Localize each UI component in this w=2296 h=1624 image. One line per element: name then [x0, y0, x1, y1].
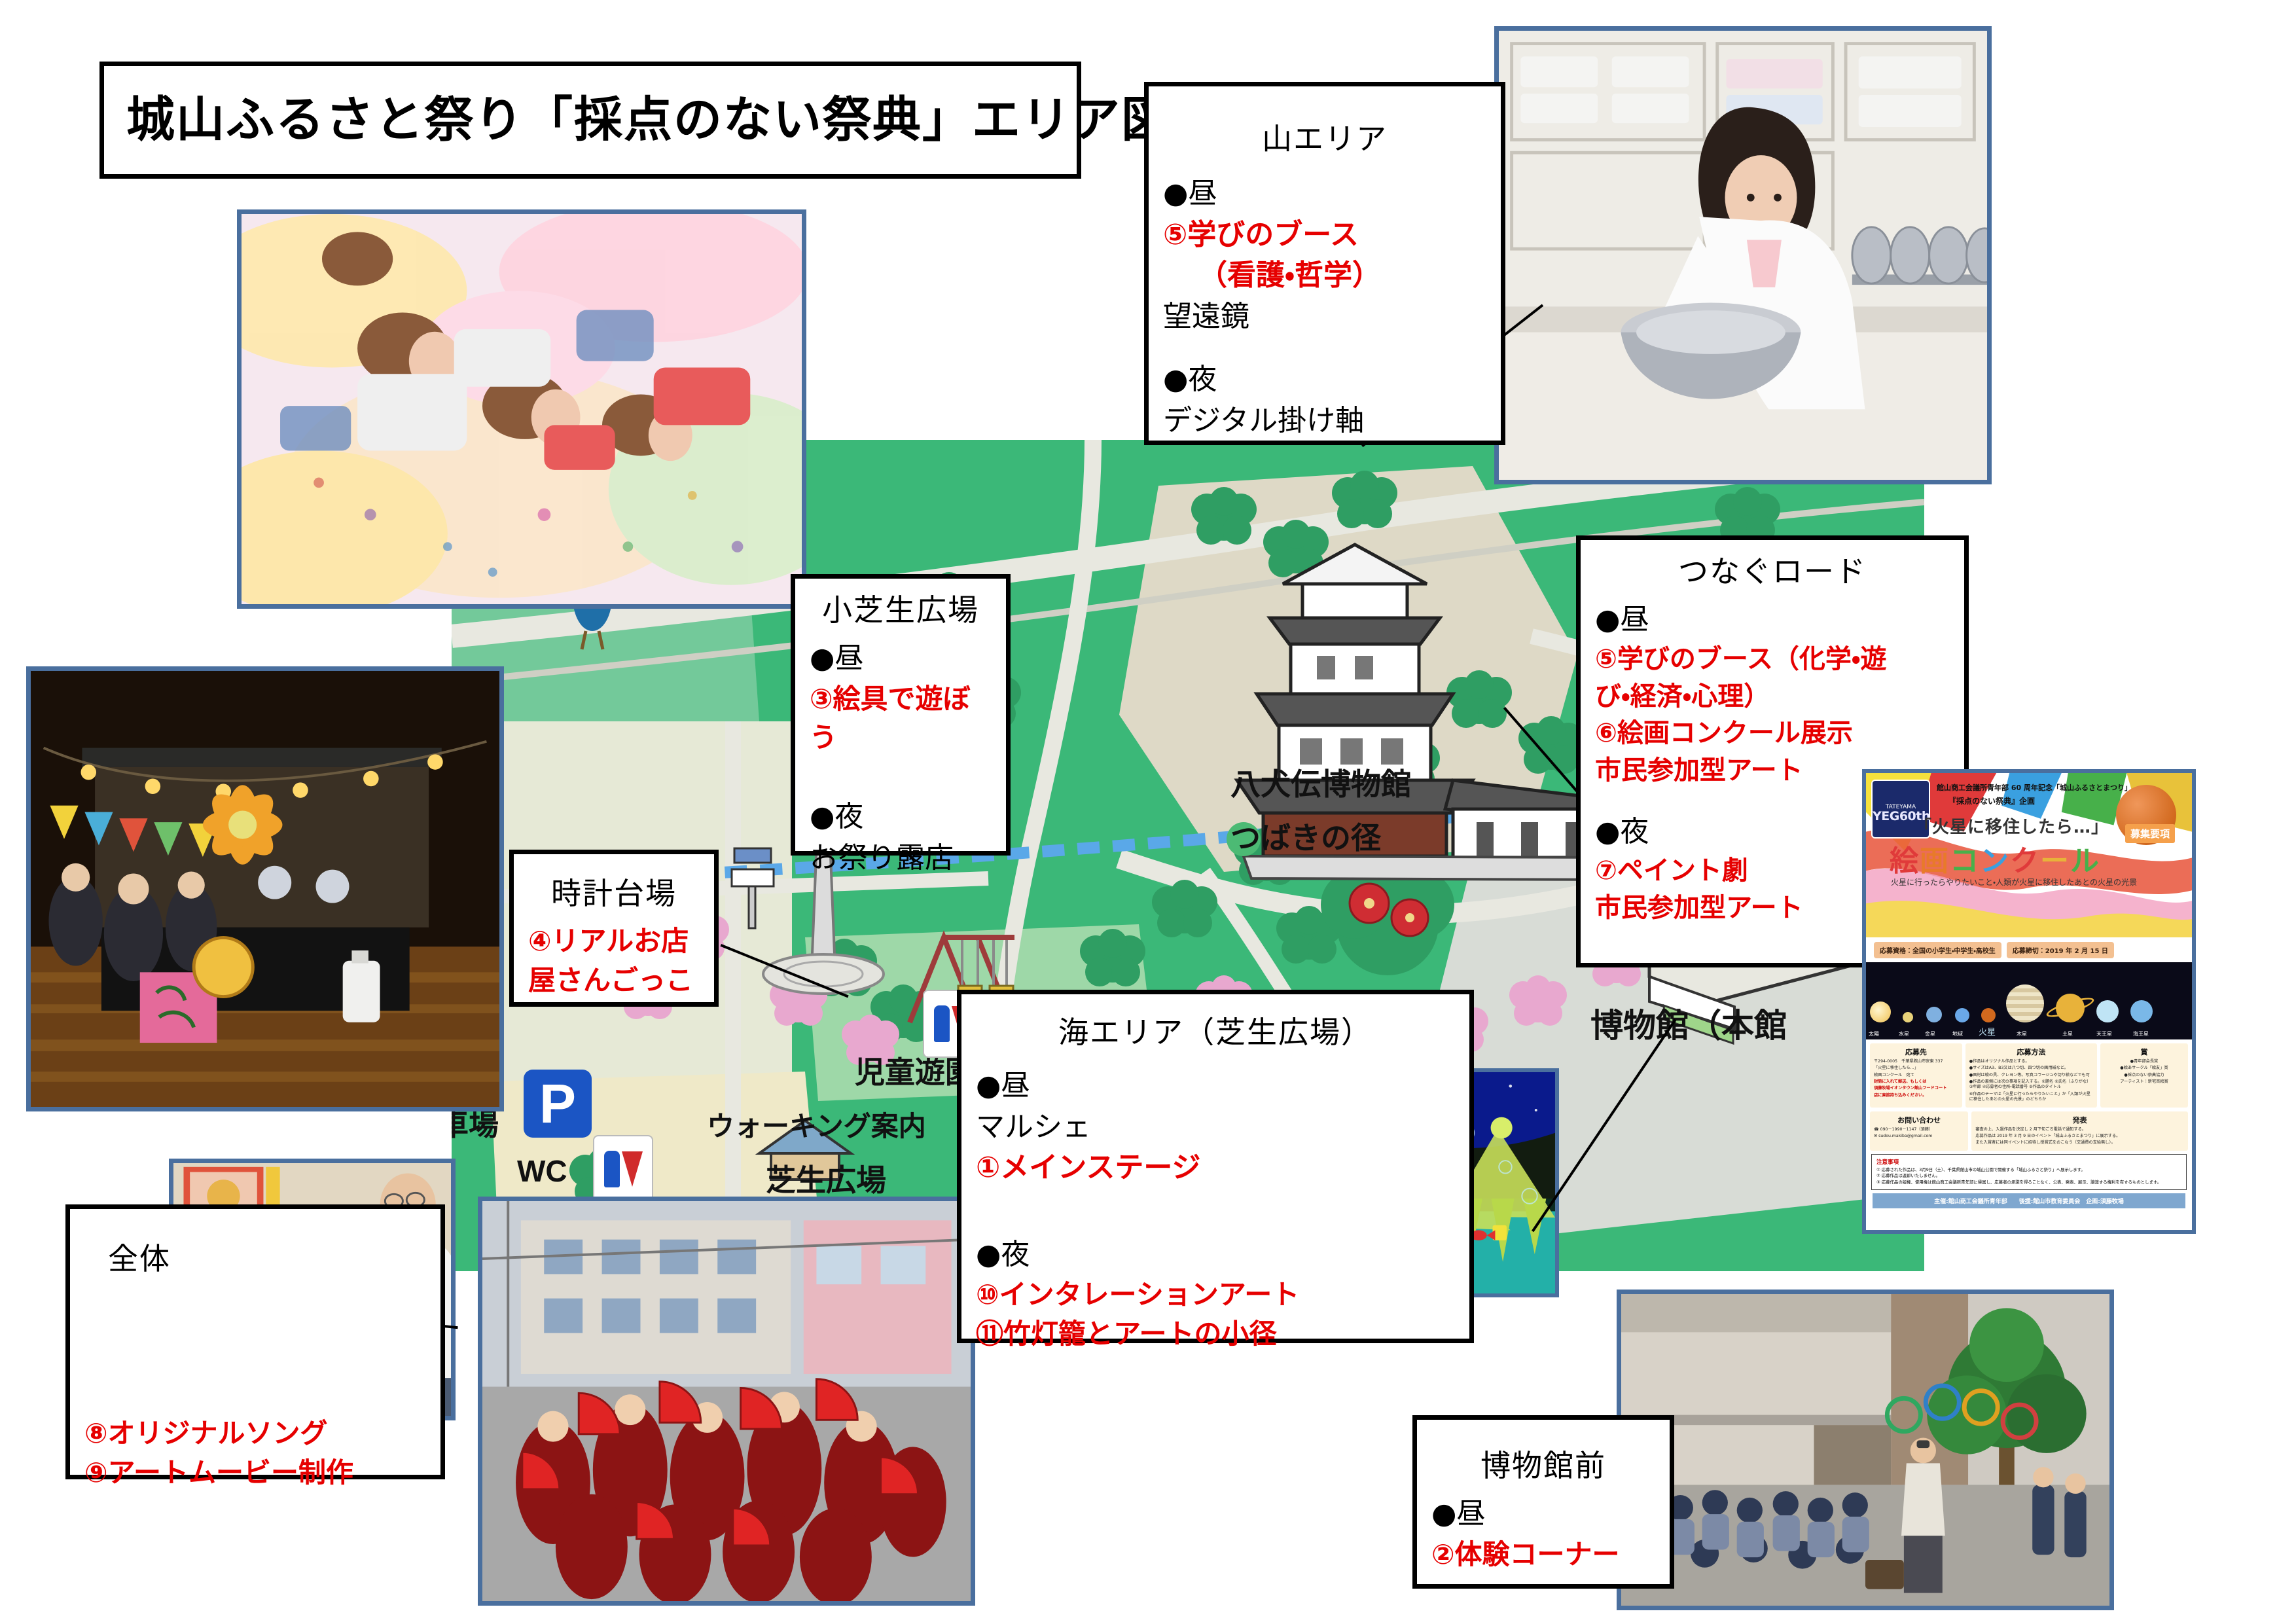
poster-solar-system: 太陽 水星 金星 地球 火星 木星 土星 天王星 海王星 — [1866, 962, 2192, 1039]
planet-label-4: 火星 — [1979, 1025, 1996, 1038]
callout-koshibafu-header: 小芝生広場 — [810, 589, 992, 632]
callout-tsunagu-day-item-1: び・経済・心理） — [1595, 678, 1950, 715]
callout-umi: 海エリア（芝生広場） ●昼 マルシェ ①メインステージ ●夜 ⑩インタレーション… — [957, 990, 1474, 1343]
poster-card-contact-line-0: ☎ 090－1990－1147（須藤） — [1874, 1127, 1964, 1132]
callout-yama-day-item-0: ⑤学びのブース — [1163, 215, 1486, 255]
poster-info-row-2: お問い合わせ ☎ 090－1990－1147（須藤） ✉ sudou.makib… — [1866, 1111, 2192, 1154]
callout-umi-day-item-1: ①メインステージ — [976, 1147, 1455, 1188]
callout-yama-night-item-0: デジタル掛け軸 — [1163, 401, 1486, 441]
poster-card-prizes-heading: 賞 — [2104, 1047, 2184, 1057]
poster-notice-line-0: ① 応募された作品は、3月9日（土）、千葉県館山市の城山公園で開催する「城山ふる… — [1876, 1167, 2181, 1173]
poster-notice-line-1: ② 応募作品は返却いたしません。 — [1876, 1173, 2181, 1179]
poster-notice-line-2: ③ 応募作品の版権、使用権は館山商工会議所青年部に帰属し、応募者の承諾を得ること… — [1876, 1180, 2181, 1185]
poster-card-prizes-line-3: アーティスト：新宅百絵賞 — [2104, 1079, 2184, 1085]
poster-pill-deadline: 応募締切：2019 年 2 月 15 日 — [2007, 942, 2114, 958]
poster-card-apply-to-line-0: 〒294-0005 千葉県館山市安東 337 — [1874, 1059, 1958, 1064]
callout-tsunagu-day-label: ●昼 — [1595, 600, 1950, 640]
poster-org-line-2: 『採点のない祭典』企画 — [1948, 795, 2035, 806]
map-label-hakubutsukan: 博物館（本館 — [1590, 1000, 1787, 1047]
parking-sign-icon: P — [524, 1070, 592, 1138]
callout-tokeidai-item-0: ④リアルお店 — [528, 922, 700, 961]
poster-card-how-to-apply-line-4: ⑥作品のテーマは「火星に行ったらやりたいこと」か「人類が火星に移住したあとの火星… — [1969, 1092, 2093, 1103]
poster-card-apply-to-red-0: 封筒に入れて郵送、もしくは — [1874, 1079, 1958, 1085]
photo-paint-kids — [237, 209, 806, 609]
callout-koshibafu-day-item-0: ③絵具で遊ぼう — [810, 679, 992, 757]
poster-card-prizes: 賞 ●青年部会長賞 ●絵あサークル「絵友」賞 ●採点のない祭典協力 アーティスト… — [2100, 1043, 2188, 1108]
poster-card-contact-line-1: ✉ sudou.makiba@gmail.com — [1874, 1134, 1964, 1139]
poster-pill-band: 応募資格：全国の小学生・中学生・高校生 応募締切：2019 年 2 月 15 日 — [1866, 938, 2192, 962]
poster-card-how-to-apply-line-3: ●作品の裏側には次の事項を記入する。①題名 ②氏名（ふりがな）③年齢 ④応募者の… — [1969, 1079, 2093, 1091]
map-label-tsubaki: つばきの径 — [1230, 814, 1381, 857]
planet-label-2: 金星 — [1925, 1030, 1935, 1038]
callout-umi-night-item-1: ⑪竹灯籠とアートの小径 — [976, 1314, 1455, 1354]
planet-mercury-icon — [1903, 1012, 1913, 1022]
callout-hakubutsukanmae-day-label: ●昼 — [1431, 1494, 1655, 1534]
planet-label-6: 土星 — [2062, 1030, 2073, 1038]
callout-hakubutsukanmae-day-item-0: ②体験コーナー — [1431, 1535, 1655, 1574]
poster-pill-qualify: 応募資格：全国の小学生・中学生・高校生 — [1874, 942, 2001, 958]
poster-card-announcement: 発表 審査の上、入選作品を決定し 2 月下旬ごろ電話で通知する。 応募作品は 2… — [1971, 1111, 2188, 1151]
planet-neptune-icon — [2130, 1000, 2153, 1022]
poster-notice-heading: 注意事項 — [1876, 1158, 2181, 1166]
poster-info-row-1: 応募先 〒294-0005 千葉県館山市安東 337 「火星に移住したら…」 絵… — [1866, 1039, 2192, 1111]
planet-label-5: 木星 — [2017, 1030, 2027, 1038]
poster-subtitle: 火星に行ったらやりたいこと・人類が火星に移住したあとの火星の光景 — [1891, 876, 2137, 888]
callout-zentai-item-0: ⑧オリジナルソング — [84, 1414, 426, 1453]
callout-tokeidai-item-1: 屋さんごっこ — [528, 961, 700, 1000]
planet-label-7: 天王星 — [2096, 1030, 2112, 1038]
callout-umi-night-item-0: ⑩インタレーションアート — [976, 1275, 1455, 1314]
planet-label-1: 水星 — [1899, 1030, 1909, 1038]
poster-org-line-1: 館山商工会議所青年部 60 周年記念「城山ふるさとまつり」 — [1937, 782, 2132, 793]
callout-hakubutsukanmae-header: 博物館前 — [1431, 1445, 1655, 1487]
planet-mars-icon — [1981, 1008, 1996, 1022]
page-title: 城山ふるさと祭り「採点のない祭典」エリア図 — [126, 86, 1054, 154]
poster-card-how-to-apply-line-0: ●作品はオリジナル作品とする。 — [1969, 1059, 2093, 1064]
poster-card-announcement-line-1: 応募作品は 2019 年 3 月 9 日のイベント「城山ふるさとまつり」に展示す… — [1975, 1134, 2184, 1139]
poster-card-prizes-line-0: ●青年部会長賞 — [2104, 1059, 2184, 1064]
callout-zentai-header: 全体 — [108, 1238, 426, 1280]
planet-sun-icon — [1870, 1001, 1891, 1022]
poster-card-contact-heading: お問い合わせ — [1874, 1115, 1964, 1125]
callout-umi-day-item-0: マルシェ — [976, 1107, 1455, 1147]
map-label-walking: ウォーキング案内 — [707, 1104, 926, 1144]
poster-card-announcement-line-0: 審査の上、入選作品を決定し 2 月下旬ごろ電話で通知する。 — [1975, 1127, 2184, 1132]
planet-jupiter-icon — [2006, 984, 2044, 1022]
poster-title-quote: 「火星に移住したら…」 — [1914, 814, 2109, 838]
callout-umi-day-label: ●昼 — [976, 1066, 1455, 1106]
planet-earth-icon — [1955, 1008, 1969, 1022]
poster-badge: 募集要項 — [2125, 824, 2175, 843]
poster-card-announcement-heading: 発表 — [1975, 1115, 2184, 1125]
wc-sign-left-icon — [593, 1135, 653, 1203]
callout-yama-night-label: ●夜 — [1163, 359, 1486, 400]
callout-zentai-item-1: ⑨アートムービー制作 — [84, 1453, 426, 1492]
photo-night-stall — [26, 666, 504, 1111]
poster-card-how-to-apply-heading: 応募方法 — [1969, 1047, 2093, 1057]
poster-header: TATEYAMA YEG60th 募集要項 館山商工会議所青年部 60 周年記念… — [1866, 773, 2192, 938]
planet-label-3: 地球 — [1952, 1030, 1963, 1038]
poster-card-prizes-line-1: ●絵あサークル「絵友」賞 — [2104, 1066, 2184, 1071]
poster-card-apply-to-line-2: 絵画コンクール 宛て — [1874, 1073, 1958, 1078]
poster-card-apply-to-line-1: 「火星に移住したら…」 — [1874, 1066, 1958, 1071]
callout-tsunagu-header: つなぐロード — [1595, 550, 1950, 593]
photo-ohara-center — [1617, 1290, 2114, 1610]
poster-card-how-to-apply-line-1: ●サイズはA3、B3又は八つ切、四つ切の画用紙など。 — [1969, 1066, 2093, 1071]
callout-hakubutsukanmae: 博物館前 ●昼 ②体験コーナー — [1412, 1415, 1674, 1589]
planet-venus-icon — [1926, 1007, 1942, 1022]
planet-label-0: 太陽 — [1869, 1030, 1879, 1038]
poster-footer: 主催:館山商工会議所青年部 後援:館山市教育委員会 企画:須藤牧場 — [1873, 1193, 2185, 1208]
callout-yama-day-item-1: （看護・哲学） — [1163, 255, 1486, 296]
callout-yama-day-item-2: 望遠鏡 — [1163, 297, 1486, 337]
callout-koshibafu: 小芝生広場 ●昼 ③絵具で遊ぼう ●夜 お祭り露店 — [791, 574, 1011, 856]
poster-card-prizes-line-2: ●採点のない祭典協力 — [2104, 1073, 2184, 1078]
poster-card-apply-to-red-2: 店に直接持ち込みください。 — [1874, 1093, 1958, 1098]
callout-yama-day-label: ●昼 — [1163, 173, 1486, 214]
poster-card-how-to-apply: 応募方法 ●作品はオリジナル作品とする。 ●サイズはA3、B3又は八つ切、四つ切… — [1965, 1043, 2097, 1108]
poster-card-announcement-line-2: また入賞者には同イベントに招待し授賞式をおこなう（交通費の支給無し）。 — [1975, 1140, 2184, 1146]
callout-koshibafu-night-item-0: お祭り露店 — [810, 838, 992, 878]
callout-koshibafu-day-label: ●昼 — [810, 638, 992, 679]
callout-koshibafu-night-label: ●夜 — [810, 797, 992, 837]
callout-yama: 山エリア ●昼 ⑤学びのブース （看護・哲学） 望遠鏡 ●夜 デジタル掛け軸 — [1144, 82, 1505, 445]
photo-red-fans — [478, 1197, 975, 1606]
callout-umi-night-label: ●夜 — [976, 1235, 1455, 1275]
poster-card-apply-to: 応募先 〒294-0005 千葉県館山市安東 337 「火星に移住したら…」 絵… — [1870, 1043, 1962, 1108]
callout-tokeidai-header: 時計台場 — [528, 873, 700, 915]
poster-notice: 注意事項 ① 応募された作品は、3月9日（土）、千葉県館山市の城山公園で開催する… — [1871, 1154, 2187, 1190]
poster-card-apply-to-heading: 応募先 — [1874, 1047, 1958, 1057]
callout-zentai: 全体 ⑧オリジナルソング ⑨アートムービー制作 — [65, 1204, 445, 1479]
art-contest-poster: TATEYAMA YEG60th 募集要項 館山商工会議所青年部 60 周年記念… — [1862, 769, 2196, 1234]
callout-umi-header: 海エリア（芝生広場） — [976, 1011, 1455, 1054]
callout-tsunagu-day-item-0: ⑤学びのブース（化学・遊 — [1595, 641, 1950, 678]
callout-tsunagu-day-item-2: ⑥絵画コンクール展示 — [1595, 715, 1950, 752]
photo-nurse — [1494, 26, 1992, 484]
poster-card-apply-to-red-1: 須藤牧場イオンタウン館山フードコート — [1874, 1086, 1958, 1091]
map-label-wc-left: WC — [517, 1153, 567, 1189]
planet-label-8: 海王星 — [2133, 1030, 2149, 1038]
planet-uranus-icon — [2096, 1000, 2119, 1022]
poster-title-main: 絵画コンクール — [1890, 837, 2100, 879]
poster-card-contact: お問い合わせ ☎ 090－1990－1147（須藤） ✉ sudou.makib… — [1870, 1111, 1968, 1151]
callout-yama-header: 山エリア — [1163, 118, 1486, 160]
map-label-hakkenden: 八犬伝博物館 — [1230, 761, 1411, 804]
poster-card-how-to-apply-line-2: ●画材は絵の具、クレヨン等。写真コラージュや切り絵などでも可 — [1969, 1073, 2093, 1078]
page-title-box: 城山ふるさと祭り「採点のない祭典」エリア図 — [99, 62, 1081, 179]
callout-tokeidai: 時計台場 ④リアルお店 屋さんごっこ — [509, 850, 719, 1007]
